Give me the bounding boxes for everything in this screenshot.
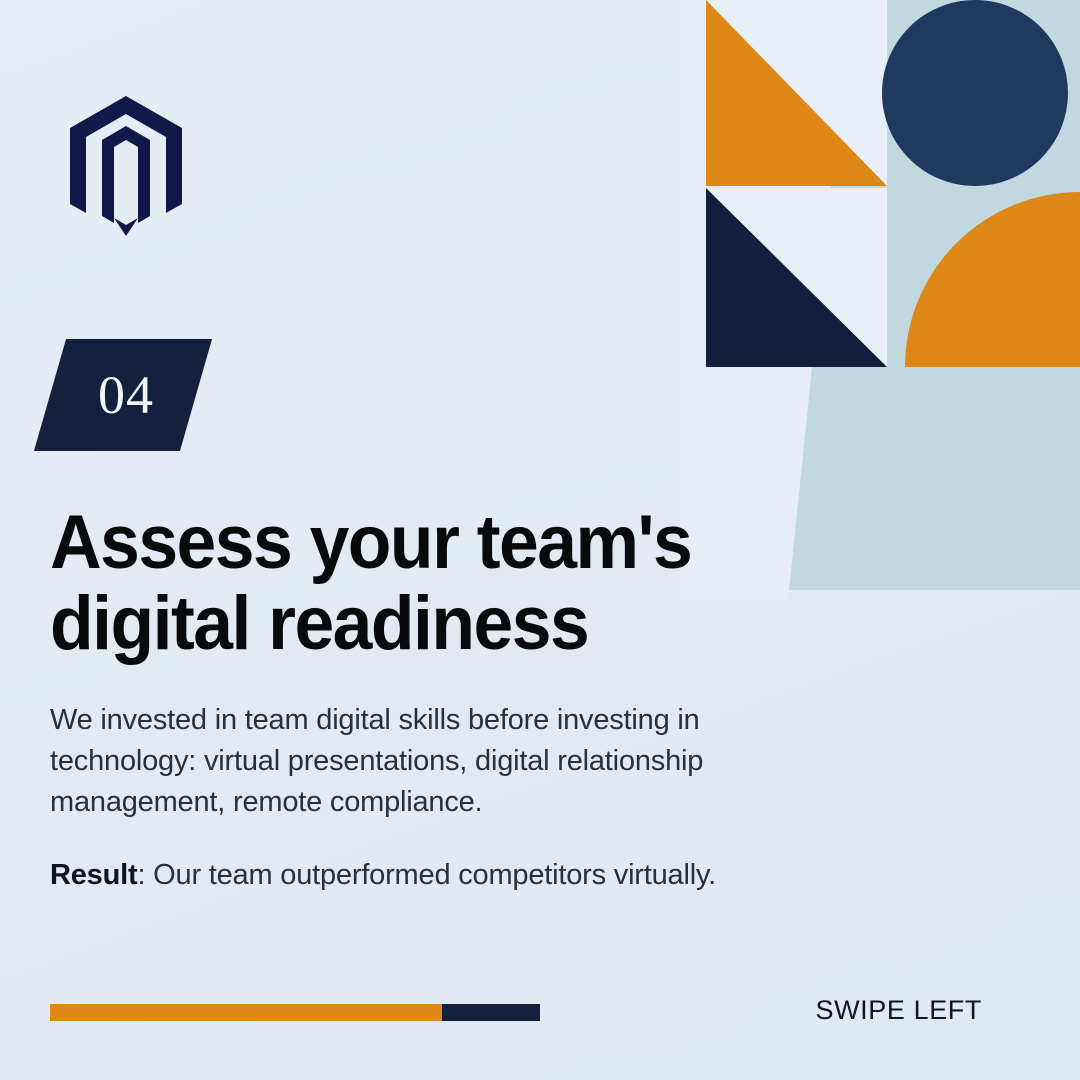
logo-center-stem — [114, 218, 138, 236]
slanted-panel-shape — [775, 0, 1080, 590]
body-paragraph: We invested in team digital skills befor… — [50, 700, 840, 824]
step-number-badge: 04 — [50, 339, 196, 451]
orange-quarter-circle-shape — [905, 192, 1080, 367]
result-label: Result — [50, 859, 137, 891]
decorative-geometry-group — [680, 0, 1080, 600]
magento-hexagon-logo-icon — [70, 96, 182, 236]
logo-outer-hex — [70, 96, 182, 213]
navy-triangle-fill — [706, 188, 887, 367]
result-text: Our team outperformed competitors virtua… — [153, 859, 716, 891]
orange-triangle-shape — [706, 0, 887, 186]
badge-number-text: 04 — [50, 339, 196, 451]
progress-bar-track — [50, 1004, 540, 1021]
page-title: Assess your team's digital readiness — [50, 503, 727, 664]
orange-triangle-fill — [706, 0, 887, 186]
page-title-line-2: digital readiness — [50, 581, 588, 666]
swipe-left-label: SWIPE LEFT — [815, 995, 982, 1026]
logo-inner-m — [102, 126, 150, 223]
progress-bar-fill — [50, 1004, 442, 1021]
slide-canvas: 04 Assess your team's digital readiness … — [0, 0, 1080, 1080]
result-separator: : — [137, 859, 153, 891]
result-line: Result: Our team outperformed competitor… — [50, 855, 950, 896]
page-title-line-1: Assess your team's — [50, 500, 691, 585]
navy-triangle-bg — [706, 188, 887, 367]
navy-circle-shape — [882, 0, 1068, 186]
